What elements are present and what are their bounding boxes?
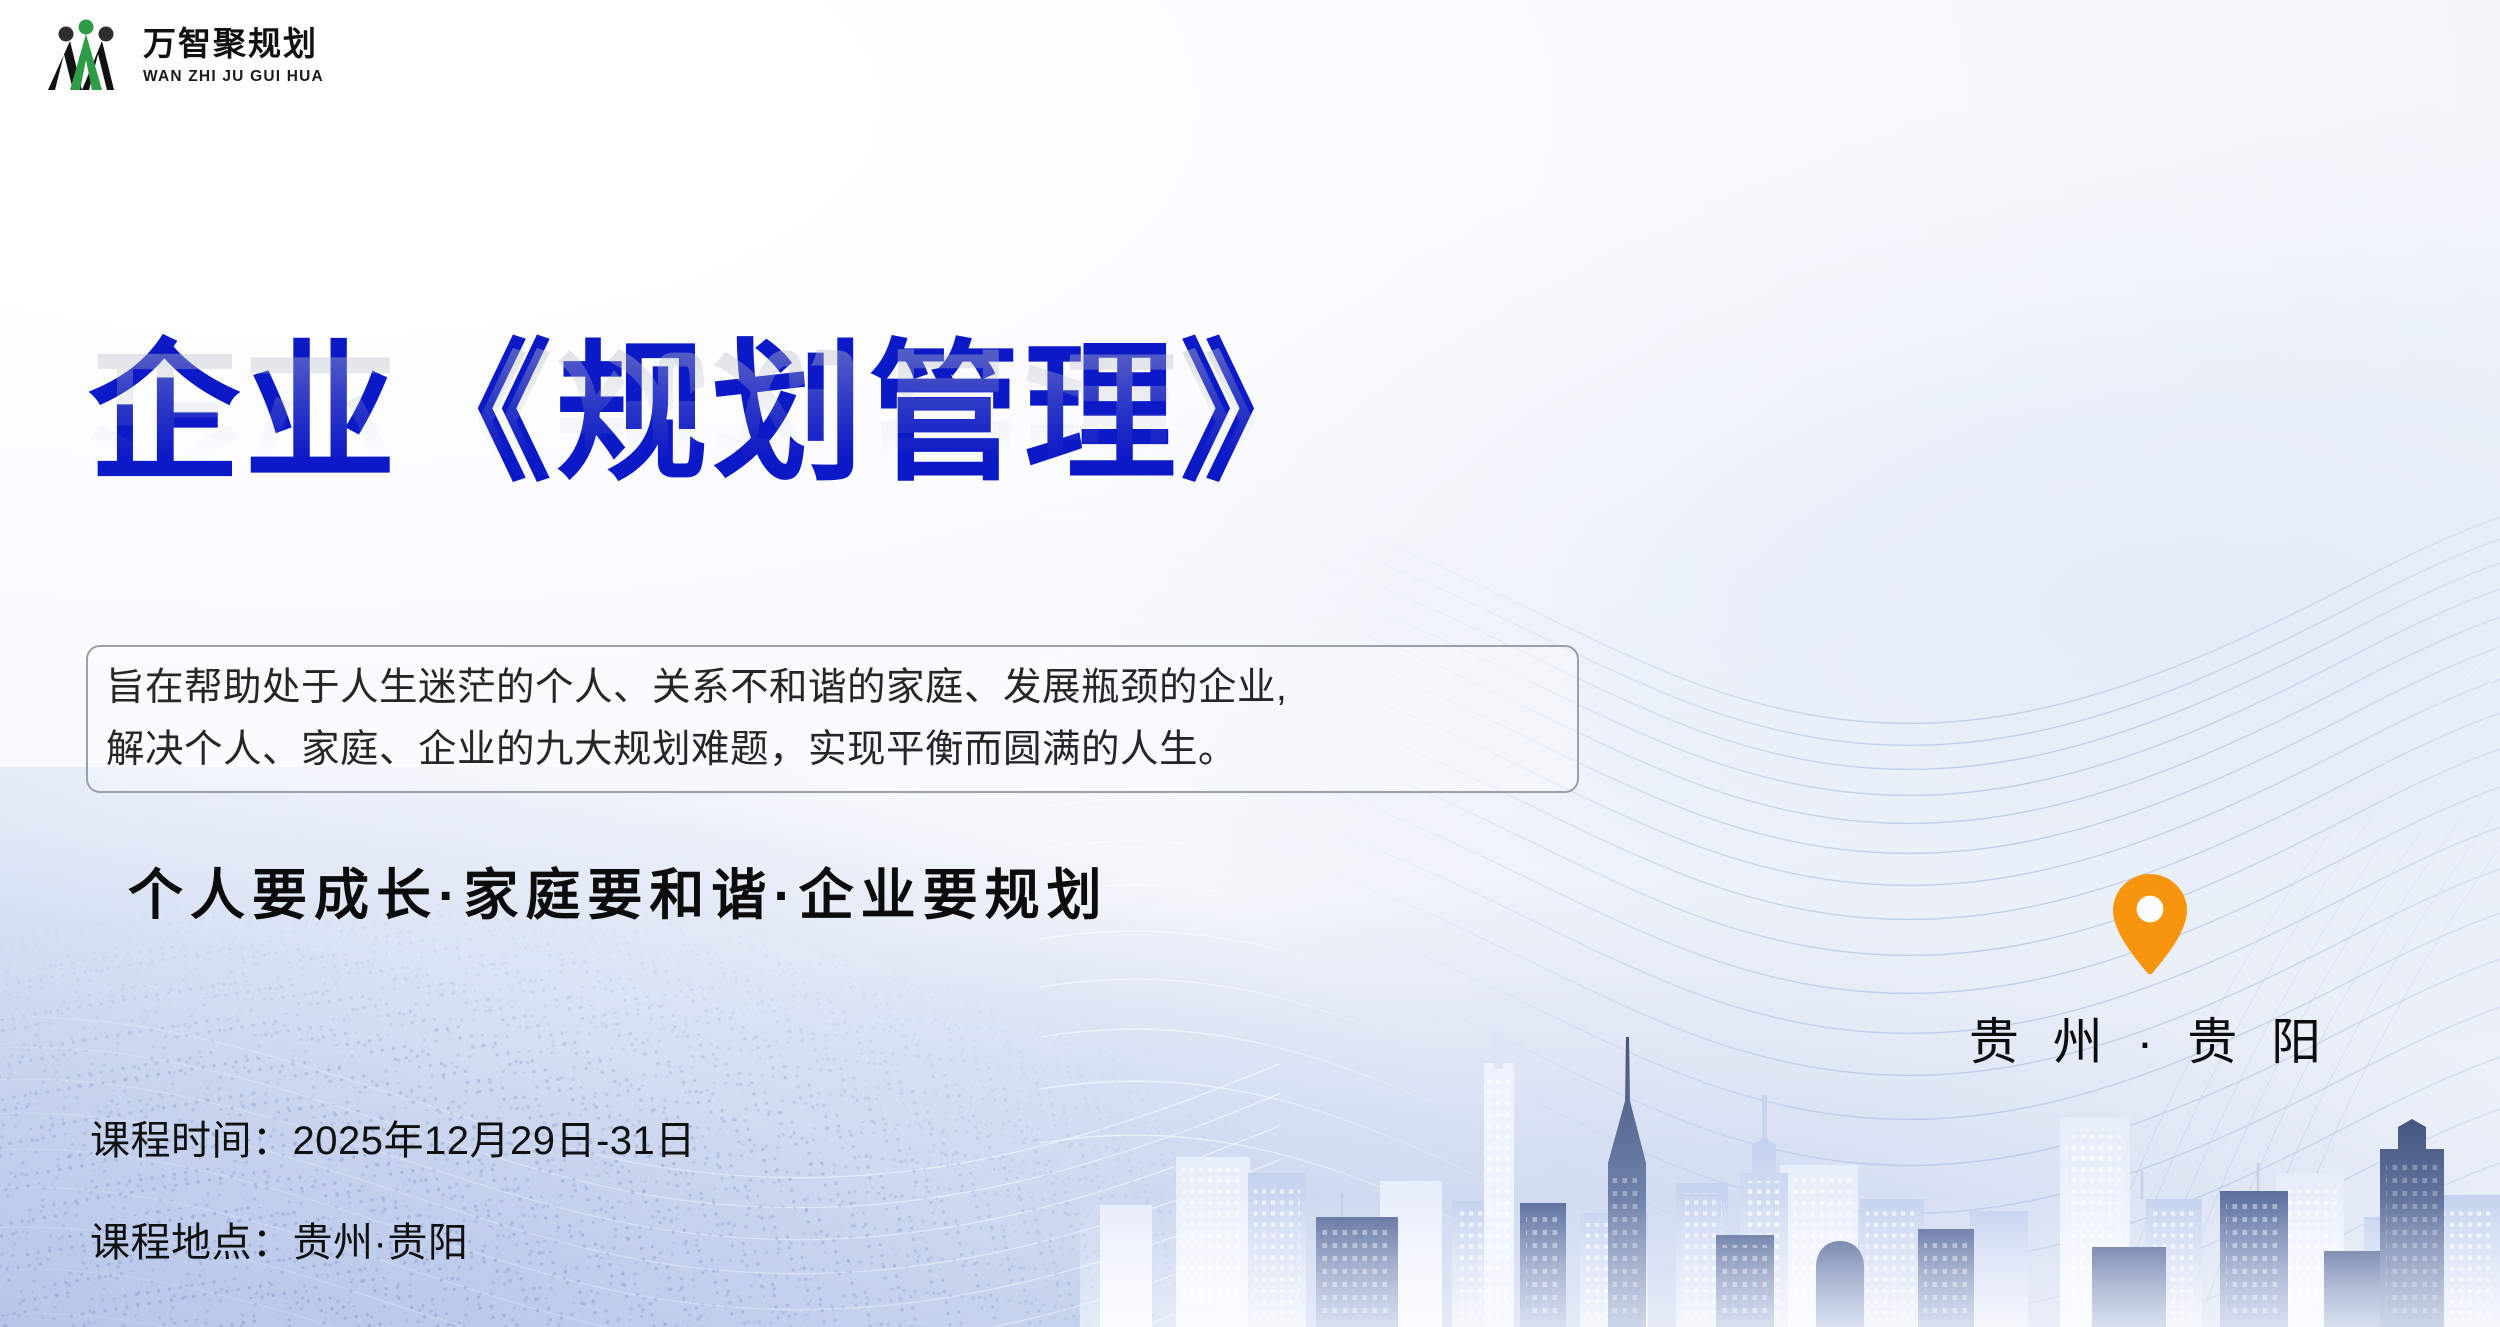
slogan-text: 个人要成长·家庭要和谐·企业要规划 (128, 850, 1109, 930)
description-line-1: 旨在帮助处于人生迷茫的个人、关系不和谐的家庭、发展瓶颈的企业, (106, 657, 1559, 719)
page-title: 企业《规划管理》 (88, 338, 1648, 490)
three-people-m-logo-icon (45, 16, 127, 94)
course-time: 课程时间：2025年12月29日-31日 (90, 1108, 696, 1166)
location-name: 贵 州 · 贵 阳 (1960, 1002, 2340, 1074)
brand-name-cn: 万智聚规划 (143, 29, 324, 62)
course-place: 课程地点：贵州·贵阳 (90, 1210, 696, 1268)
map-pin-icon (2111, 872, 2189, 976)
brand-logo: 万智聚规划 WAN ZHI JU GUI HUA (45, 16, 324, 94)
brand-name-pinyin: WAN ZHI JU GUI HUA (143, 69, 324, 85)
description-line-2: 解决个人、家庭、企业的九大规划难题，实现平衡而圆满的人生。 (106, 719, 1559, 781)
location-block: 贵 州 · 贵 阳 (1960, 872, 2340, 1074)
description-box: 旨在帮助处于人生迷茫的个人、关系不和谐的家庭、发展瓶颈的企业, 解决个人、家庭、… (86, 645, 1579, 793)
course-info: 课程时间：2025年12月29日-31日 课程地点：贵州·贵阳 (90, 1108, 696, 1268)
poster-canvas: 万智聚规划 WAN ZHI JU GUI HUA 企业《规划管理》 企业《规划管… (0, 0, 2500, 1327)
hero-title-block: 企业《规划管理》 企业《规划管理》 (88, 338, 1648, 644)
